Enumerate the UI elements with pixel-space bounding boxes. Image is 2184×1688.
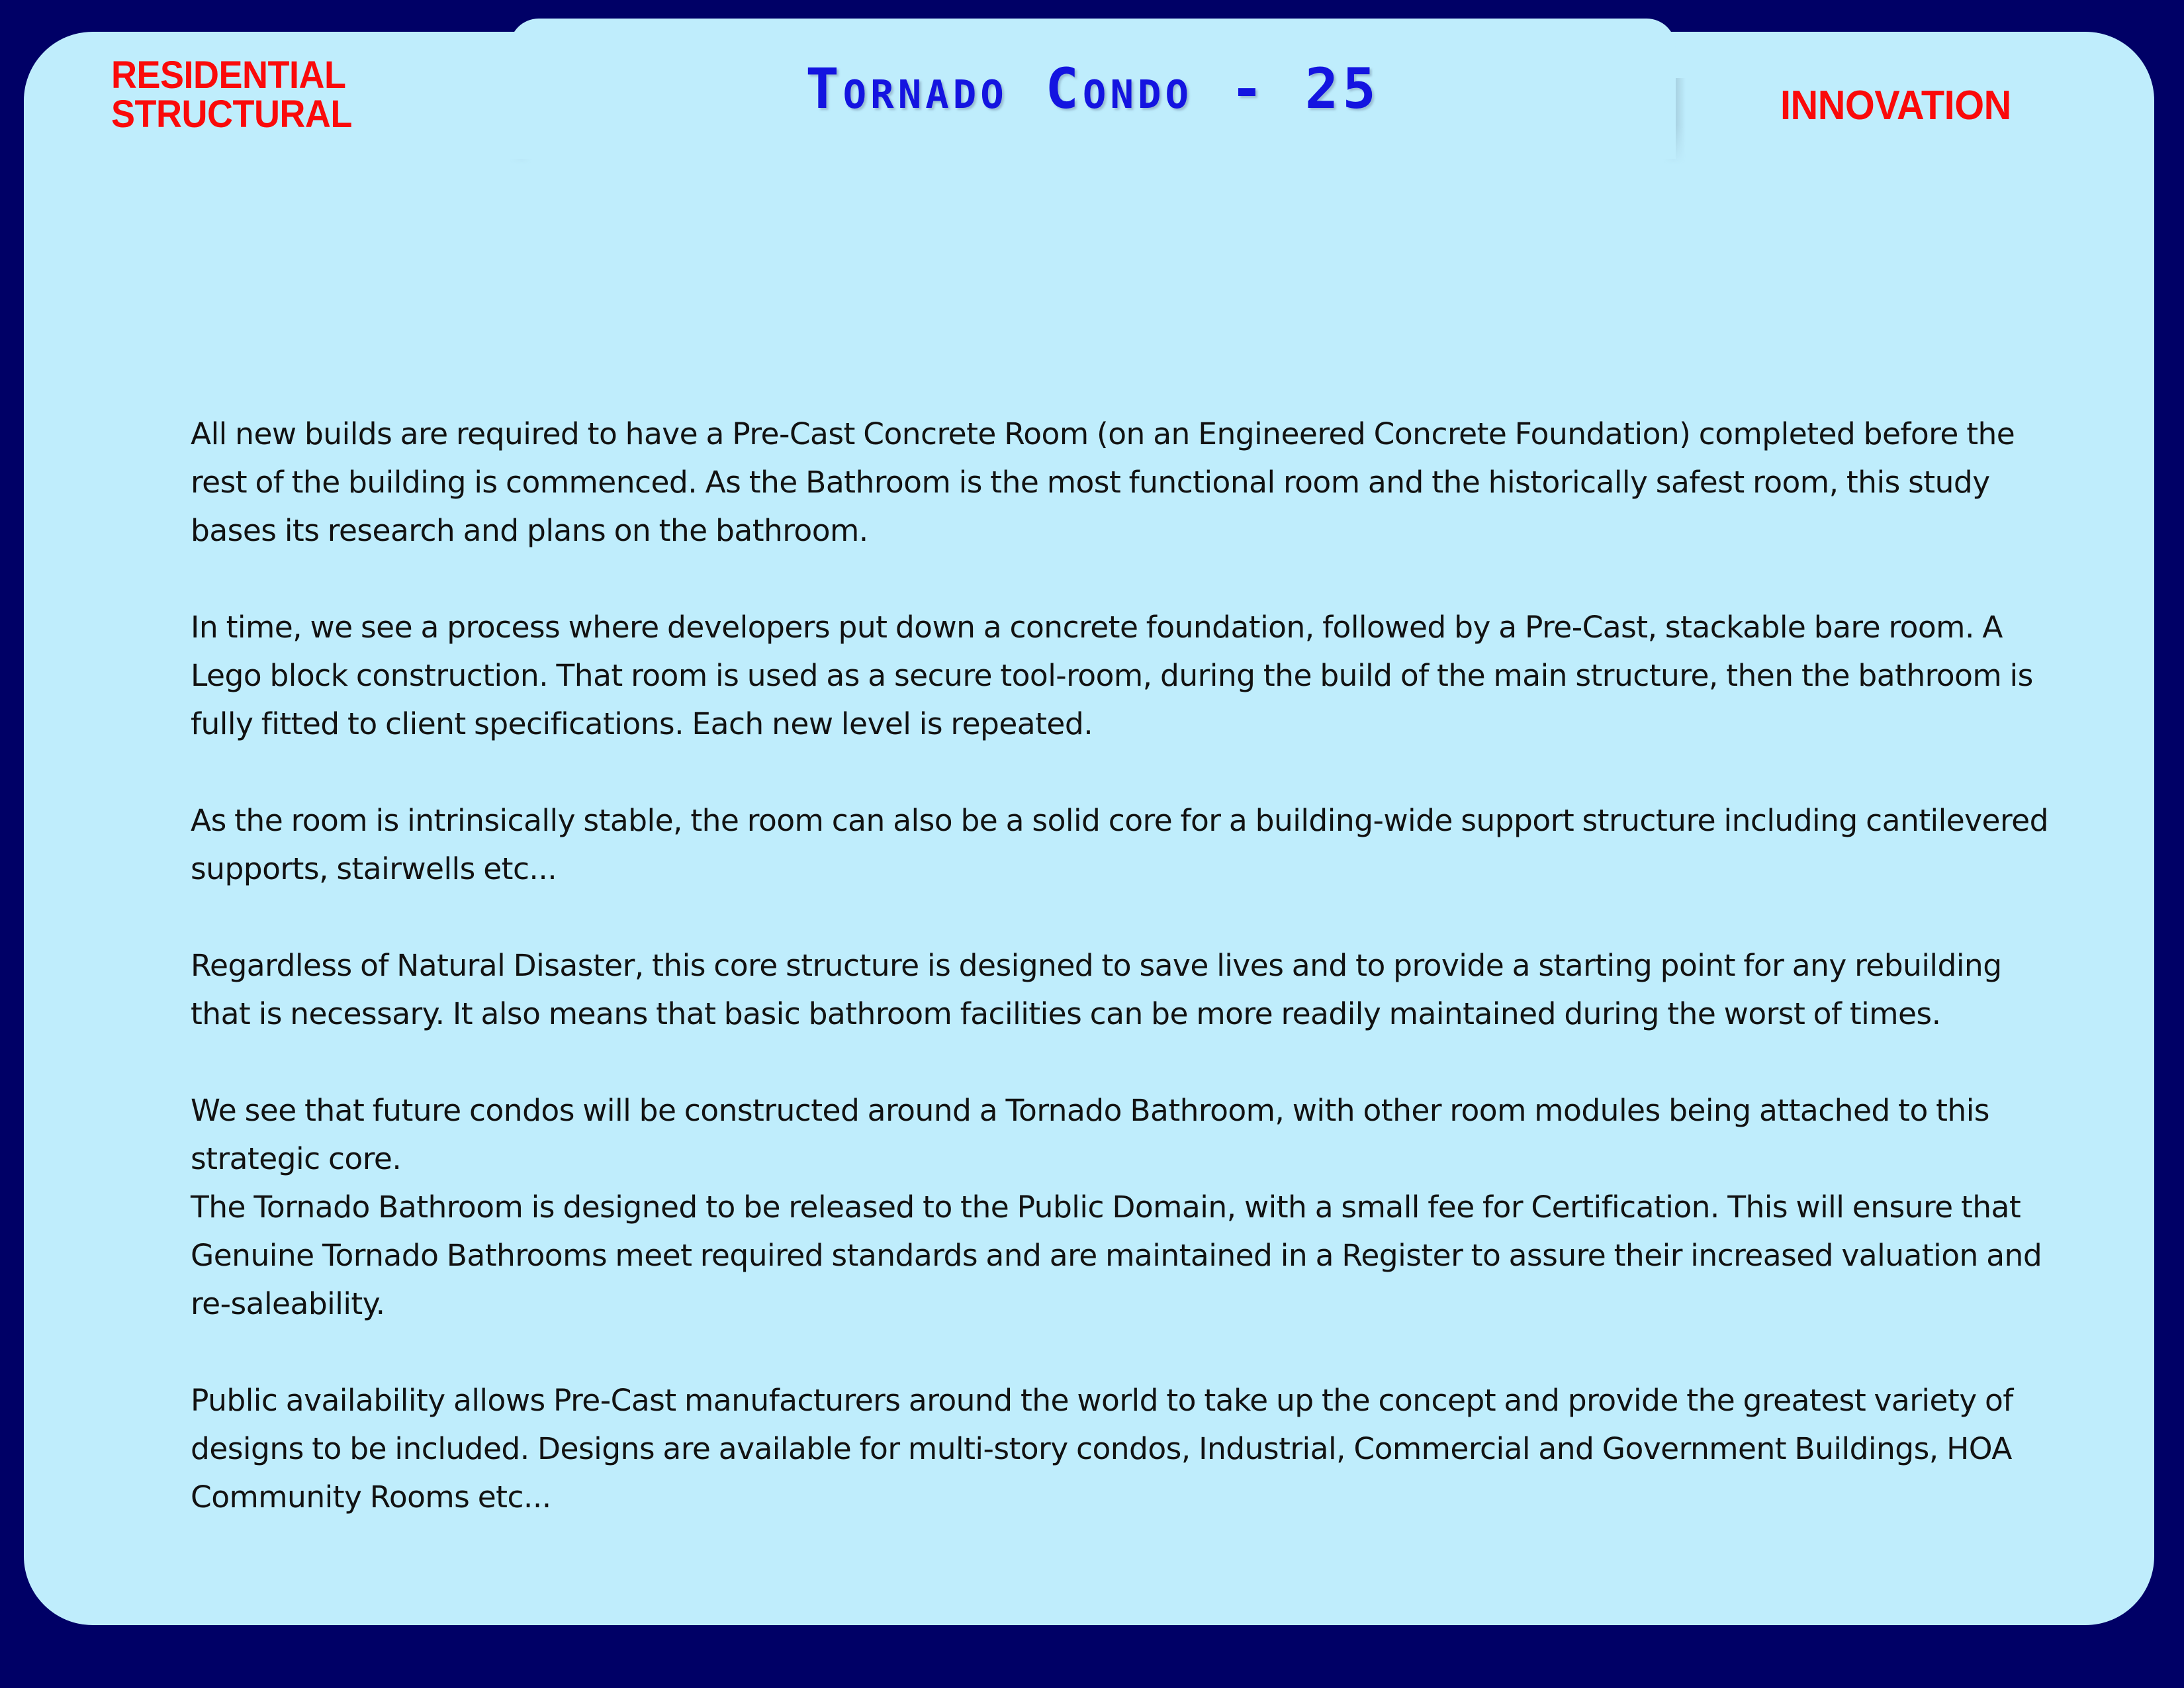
body-paragraph: As the room is intrinsically stable, the… [191,796,2064,893]
body-paragraph: We see that future condos will be constr… [191,1086,2064,1183]
body-paragraph: The Tornado Bathroom is designed to be r… [191,1183,2064,1328]
category-label-innovation: INNOVATION [1780,85,2011,126]
body-paragraph: In time, we see a process where develope… [191,603,2064,748]
main-content-panel: All new builds are required to have a Pr… [24,32,2154,1625]
body-paragraph: All new builds are required to have a Pr… [191,410,2064,555]
body-copy-region: All new builds are required to have a Pr… [191,361,2064,1521]
body-paragraph: Public availability allows Pre-Cast manu… [191,1376,2064,1521]
body-paragraph: Regardless of Natural Disaster, this cor… [191,941,2064,1038]
title-tab-panel: Tornado Condo - 25 [510,19,1676,159]
category-label-residential-structural: RESIDENTIAL STRUCTURAL [111,56,352,134]
page-title: Tornado Condo - 25 [805,61,1380,117]
